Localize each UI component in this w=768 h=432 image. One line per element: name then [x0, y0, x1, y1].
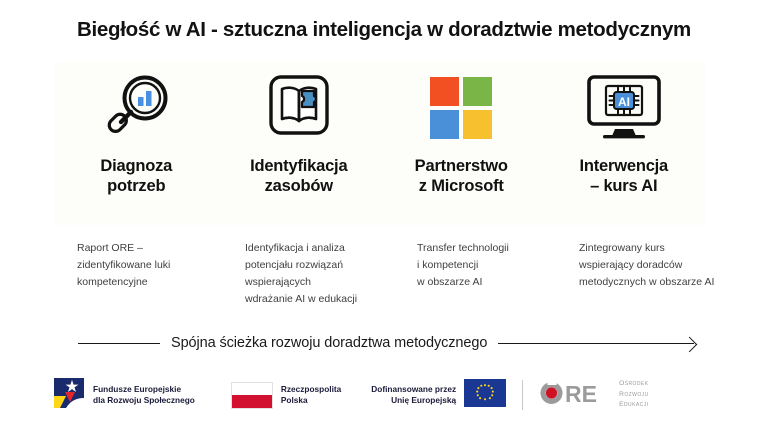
pillar-heading: Identyfikacja zasobów [250, 156, 347, 196]
monitor-ai-chip-icon: AI [581, 62, 667, 154]
footer-logo-bar: Fundusze Europejskie dla Rozwoju Społecz… [52, 372, 724, 418]
pillar-diagnoza[interactable]: Diagnoza potrzeb [55, 62, 218, 196]
european-funds-logo [52, 376, 86, 415]
description-text: Identyfikacja i analiza potencjału rozwi… [245, 240, 393, 308]
book-puzzle-piece-icon [260, 62, 338, 154]
ore-logo-block: RE Ośrodek Rozwoju Edukacji [536, 375, 649, 415]
pillar-identyfikacja[interactable]: Identyfikacja zasobów [218, 62, 381, 196]
european-union-logo-text: Dofinansowane przez Unię Europejską [371, 384, 456, 407]
description-text: Transfer technologii i kompetencji w obs… [417, 240, 565, 291]
poland-flag-icon [231, 382, 273, 409]
pathway-arrow-banner: Spójna ścieżka rozwoju doradztwa metodyc… [78, 331, 694, 355]
svg-text:AI: AI [618, 95, 630, 109]
description-text: Zintegrowany kurs wspierający doradców m… [579, 240, 727, 291]
european-union-flag-icon [464, 379, 506, 412]
descriptions-row: Raport ORE – zidentyfikowane luki kompet… [55, 240, 735, 308]
poland-logo-block: Rzeczpospolita Polska [231, 375, 341, 415]
pillar-microsoft[interactable]: Partnerstwo z Microsoft [380, 62, 543, 196]
arrow-banner-label: Spójna ścieżka rozwoju doradztwa metodyc… [160, 335, 498, 351]
magnifier-bar-chart-icon [97, 62, 175, 154]
pillar-interwencja[interactable]: AI Interwencja – kurs AI [543, 62, 706, 196]
right-arrow-icon [682, 336, 698, 352]
footer-divider [522, 380, 523, 410]
pillars-row: Diagnoza potrzeb Identyfikacja zasobów [55, 62, 705, 225]
description-column: Identyfikacja i analiza potencjału rozwi… [233, 240, 401, 308]
arrow-line-left [78, 343, 160, 344]
ore-logo-icon: RE [536, 379, 612, 412]
microsoft-logo-icon [428, 62, 494, 154]
description-column: Transfer technologii i kompetencji w obs… [401, 240, 573, 291]
european-union-logo-block: Dofinansowane przez Unię Europejską [371, 375, 506, 415]
description-column: Zintegrowany kurs wspierający doradców m… [573, 240, 735, 291]
poland-logo-text: Rzeczpospolita Polska [281, 384, 341, 407]
european-funds-logo-text: Fundusze Europejskie dla Rozwoju Społecz… [93, 384, 195, 407]
description-text: Raport ORE – zidentyfikowane luki kompet… [77, 240, 225, 291]
pillar-heading: Partnerstwo z Microsoft [415, 156, 508, 196]
page-title: Biegłość w AI - sztuczna inteligencja w … [0, 18, 768, 42]
pillar-heading: Diagnoza potrzeb [100, 156, 172, 196]
description-column: Raport ORE – zidentyfikowane luki kompet… [55, 240, 233, 291]
european-funds-logo-block: Fundusze Europejskie dla Rozwoju Społecz… [52, 375, 195, 415]
arrow-line-right [498, 343, 694, 344]
ore-logo-subtext: Ośrodek Rozwoju Edukacji [619, 379, 649, 411]
pillar-heading: Interwencja – kurs AI [579, 156, 668, 196]
slide-root: Biegłość w AI - sztuczna inteligencja w … [0, 0, 768, 432]
svg-text:RE: RE [565, 381, 597, 407]
